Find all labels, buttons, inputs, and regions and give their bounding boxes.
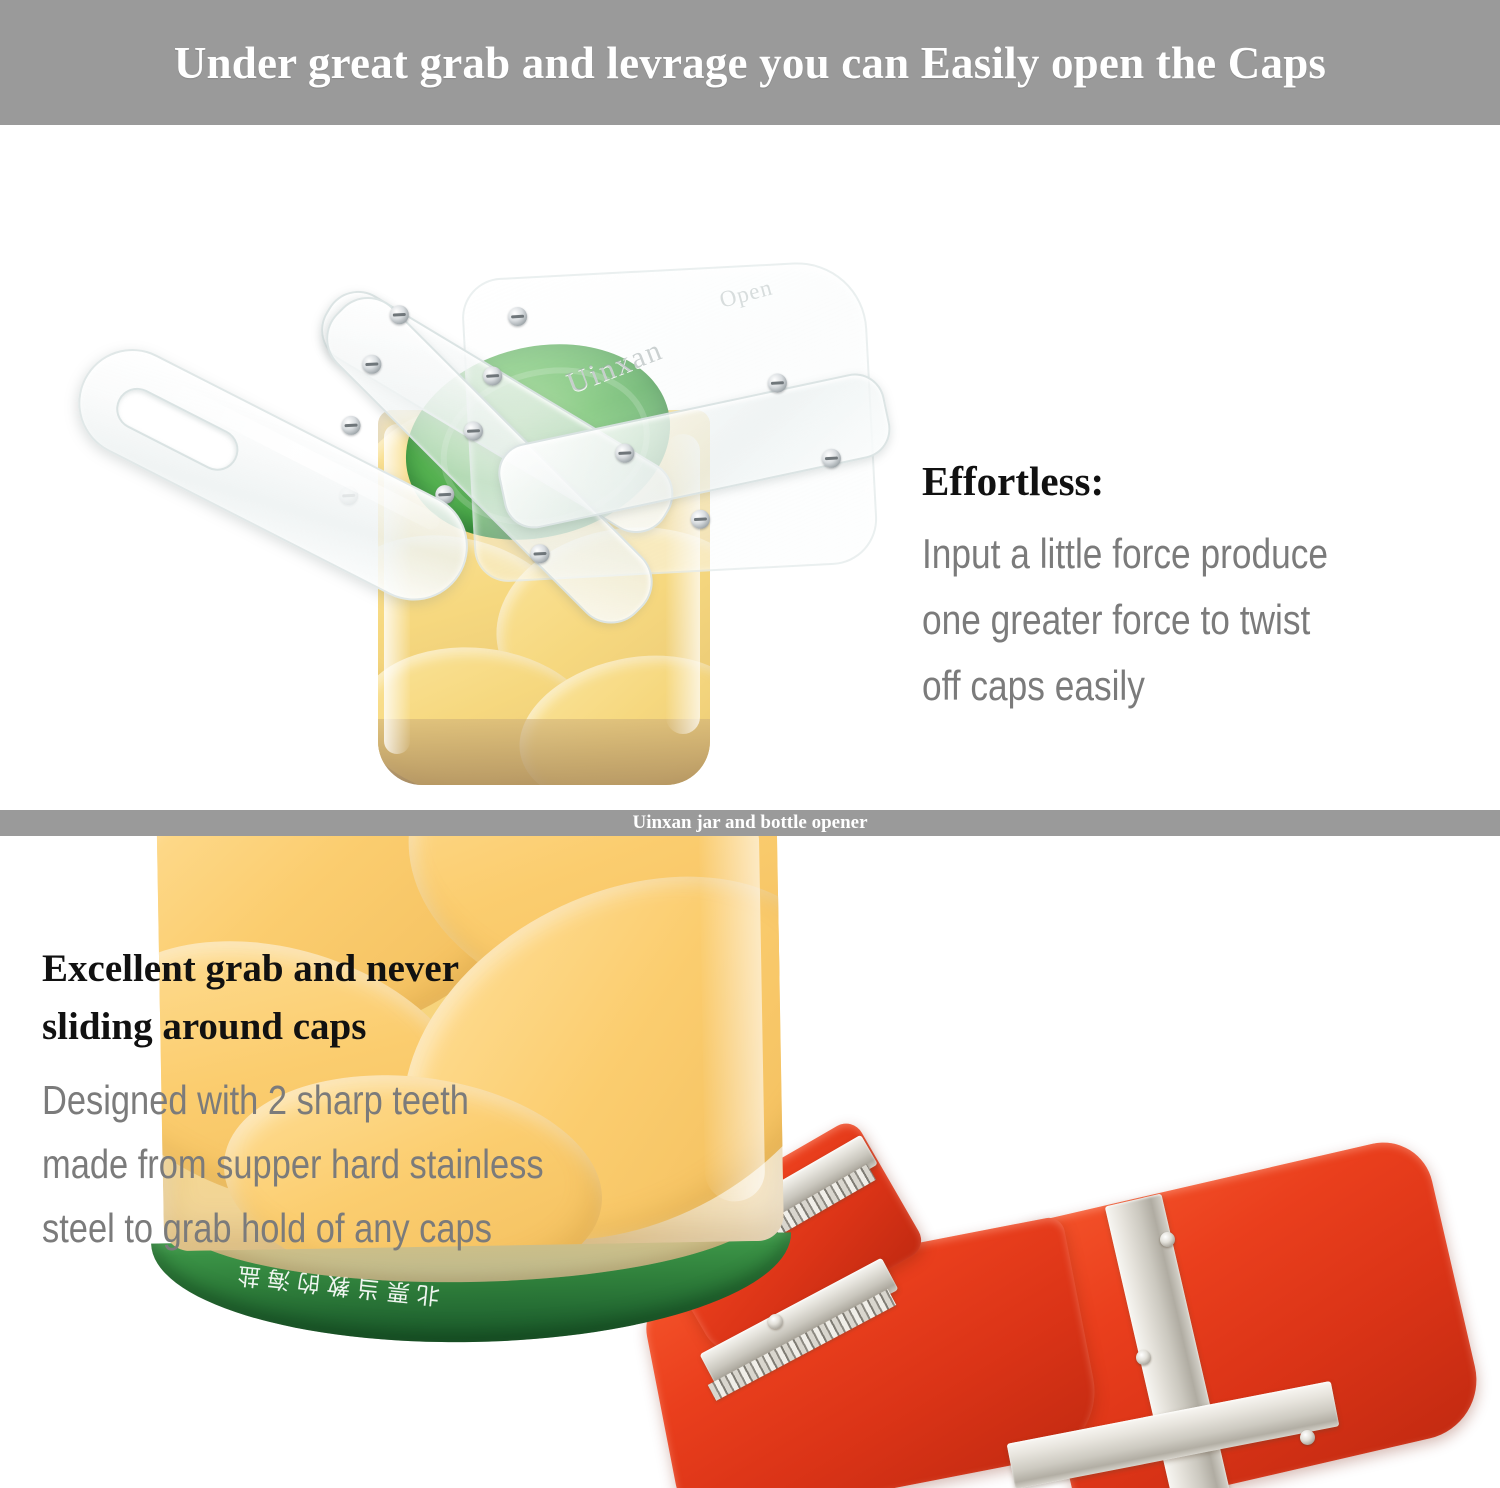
effortless-feature-block: Effortless: Input a little force produce… — [922, 455, 1405, 719]
glass-highlight — [699, 836, 766, 1202]
effortless-body-line: one greater force to twist — [922, 587, 1328, 653]
effortless-heading: Effortless: — [922, 455, 1405, 507]
grab-body-line: steel to grab hold of any caps — [42, 1196, 544, 1260]
grab-heading-line: Excellent grab and never — [42, 940, 639, 998]
screw-icon — [1300, 1430, 1315, 1445]
screw-icon — [1160, 1232, 1175, 1247]
grab-feature-block: Excellent grab and never sliding around … — [42, 940, 639, 1260]
screw-icon — [1136, 1350, 1151, 1365]
top-product-panel: Uinxan Open Effortless: Input a little f… — [0, 125, 1500, 810]
screw-icon — [341, 415, 361, 435]
grab-body: Designed with 2 sharp teeth made from su… — [42, 1068, 639, 1260]
syrup-pool — [378, 719, 710, 785]
screw-icon — [768, 1314, 783, 1329]
header-banner: Under great grab and levrage you can Eas… — [0, 0, 1500, 125]
effortless-body-line: off caps easily — [922, 653, 1328, 719]
header-title: Under great grab and levrage you can Eas… — [174, 37, 1326, 89]
effortless-body-line: Input a little force produce — [922, 521, 1328, 587]
grab-body-line: Designed with 2 sharp teeth — [42, 1068, 544, 1132]
bottom-product-panel: 北票当教的海盐 Excellent grab and never sliding… — [0, 836, 1500, 1488]
grab-body-line: made from supper hard stainless — [42, 1132, 544, 1196]
grab-heading-line: sliding around caps — [42, 998, 639, 1056]
divider-banner: Uinxan jar and bottle opener — [0, 810, 1500, 836]
divider-title: Uinxan jar and bottle opener — [632, 812, 867, 834]
